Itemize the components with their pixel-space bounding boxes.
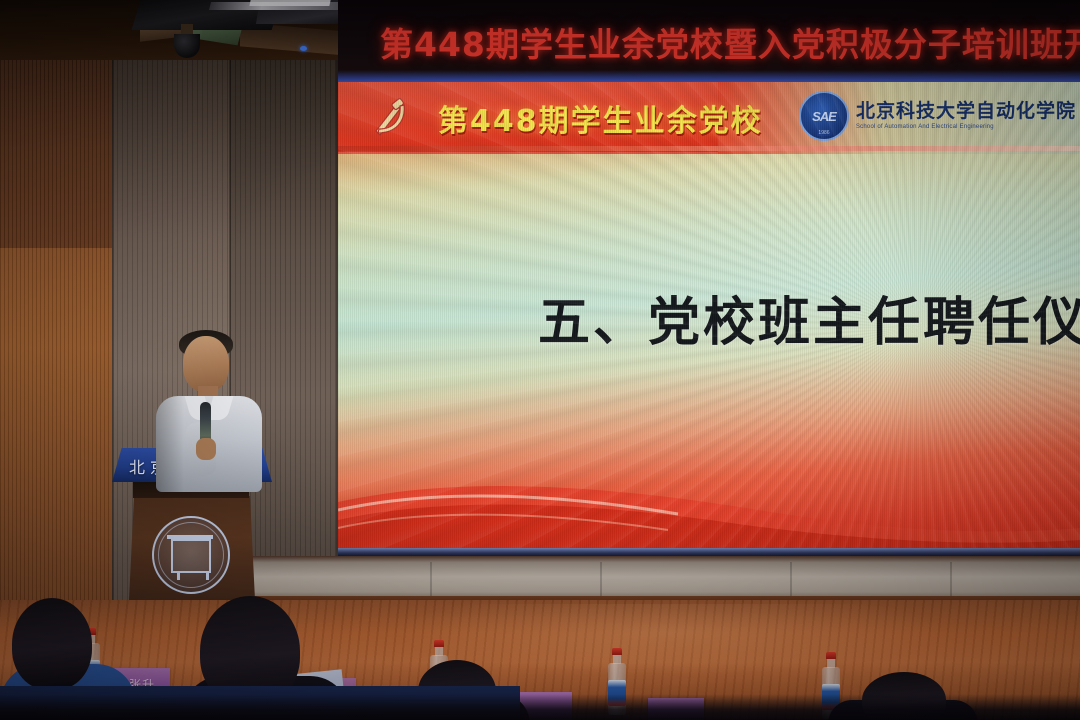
hammer-and-sickle-icon — [366, 93, 416, 143]
speaker-shading — [156, 396, 184, 492]
logo-year: 1986 — [816, 130, 831, 136]
ceiling-white-edge — [249, 0, 330, 6]
ustb-ding-crest-icon — [152, 516, 230, 594]
speaker-head — [183, 336, 229, 392]
department-name-en: School of Automation And Electrical Engi… — [856, 124, 1076, 131]
slide-title: 五、党校班主任聘任仪式 — [538, 280, 1080, 355]
indicator-led — [300, 46, 307, 51]
slide-header-rule — [338, 146, 1080, 151]
speaker-person — [150, 330, 268, 490]
floor-highlight — [400, 604, 940, 674]
stage-band-seam — [790, 562, 792, 596]
slide-ribbon-decoration — [338, 424, 1080, 554]
stage-band-seam — [430, 562, 432, 596]
ustb-automation-logo-icon: SAE 1986 — [799, 91, 849, 141]
bottle-cap — [826, 652, 836, 659]
led-screen: 第448期学生业余党校 SAE 1986 北京科技大学自动化学院 School … — [338, 82, 1080, 554]
department-name-cn: 北京科技大学自动化学院 — [856, 101, 1076, 122]
bottle-cap — [434, 640, 444, 647]
wall-seam — [112, 0, 114, 600]
photo-scene: 第448期学生业余党校暨入党积极分子培训班开班 第448期学生业余党校 SAE … — [0, 0, 1080, 720]
stage-band-seam — [950, 562, 952, 596]
stage-band-seam — [600, 562, 602, 596]
banner-text: 第448期学生业余党校暨入党积极分子培训班开班 — [380, 18, 1080, 66]
foreground-shadow — [0, 694, 1080, 720]
ding-vessel-shape — [171, 538, 211, 573]
department-name-block: 北京科技大学自动化学院 School of Automation And Ele… — [856, 101, 1076, 130]
speaker-hand — [196, 438, 216, 460]
audience-member-head — [12, 598, 92, 690]
department-logo: SAE 1986 北京科技大学自动化学院 School of Automatio… — [799, 88, 1076, 144]
slide-header-title: 第448期学生业余党校 — [438, 96, 763, 140]
event-banner: 第448期学生业余党校暨入党积极分子培训班开班 — [338, 0, 1080, 86]
bottle-cap — [612, 648, 622, 655]
logo-abbrev: SAE — [812, 109, 836, 124]
